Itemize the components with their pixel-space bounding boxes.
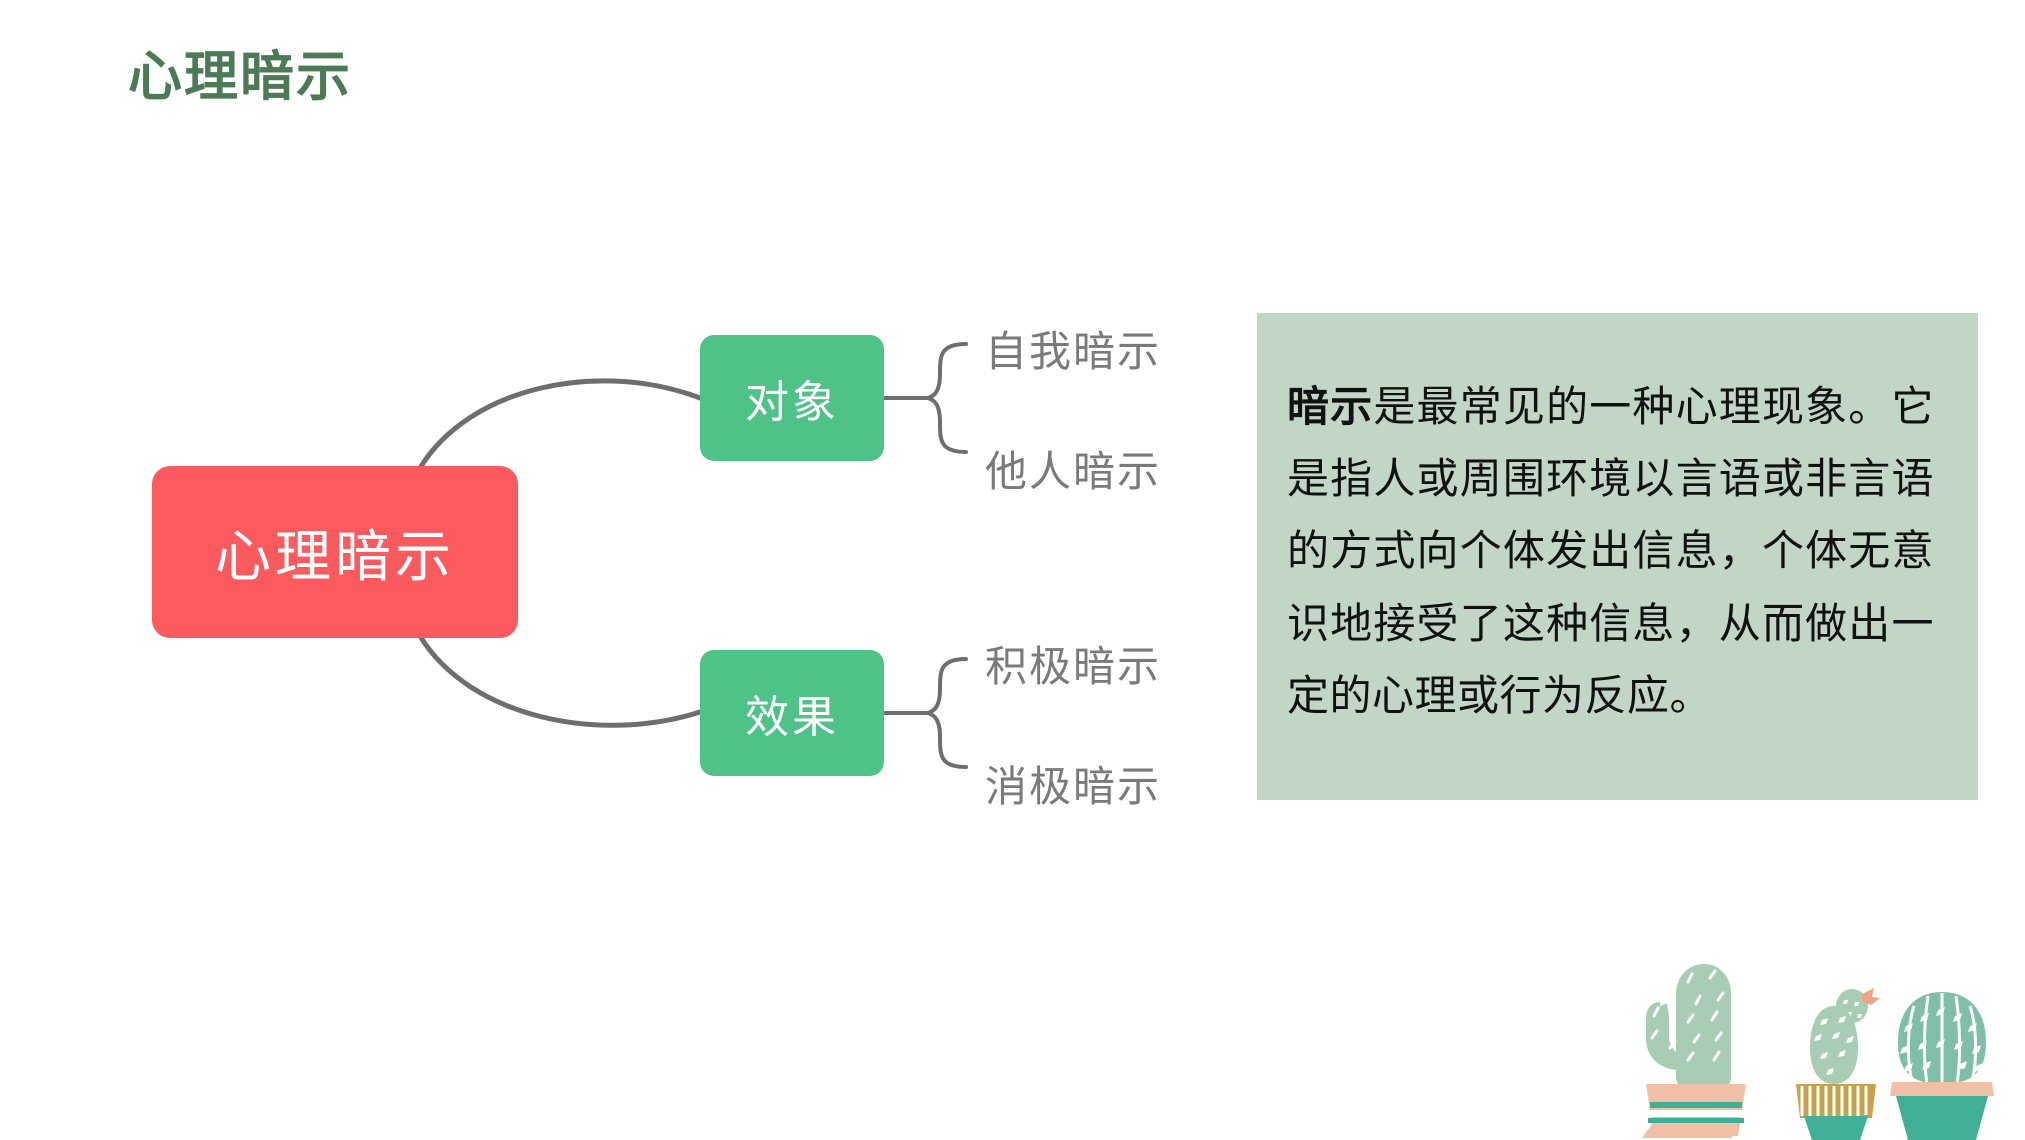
cactus-bunny-ear-icon [1796,988,1880,1140]
mindmap-branch-node-object[interactable]: 对象 [700,335,884,461]
mindmap-leaf-other-suggestion[interactable]: 他人暗示 [985,438,1161,499]
description-keyword: 暗示 [1287,383,1373,430]
description-panel: 暗示是最常见的一种心理现象。它是指人或周围环境以言语或非言语的方式向个体发出信息… [1257,313,1978,800]
description-body: 是最常见的一种心理现象。它是指人或周围环境以言语或非言语的方式向个体发出信息，个… [1287,383,1934,719]
mindmap-branch-node-effect[interactable]: 效果 [700,650,884,776]
mindmap-leaf-negative-suggestion[interactable]: 消极暗示 [985,753,1161,814]
connector-root-to-branch2 [420,636,700,725]
cactus-decoration [1630,960,2020,1140]
connector-root-to-branch1 [420,381,700,468]
description-text: 暗示是最常见的一种心理现象。它是指人或周围环境以言语或非言语的方式向个体发出信息… [1287,371,1934,732]
mindmap-branch-label: 效果 [745,681,839,745]
mindmap-diagram: 心理暗示 对象 效果 自我暗示 他人暗示 积极暗示 消极暗示 [0,0,1230,1139]
cactus-tall-icon [1642,964,1746,1138]
mindmap-root-label: 心理暗示 [215,512,455,593]
cactus-barrel-icon [1890,992,1994,1140]
mindmap-root-node[interactable]: 心理暗示 [152,466,518,638]
brace-branch2 [928,659,966,767]
mindmap-branch-label: 对象 [745,366,839,430]
mindmap-leaf-self-suggestion[interactable]: 自我暗示 [985,318,1161,379]
brace-branch1 [928,344,966,452]
mindmap-leaf-positive-suggestion[interactable]: 积极暗示 [985,633,1161,694]
